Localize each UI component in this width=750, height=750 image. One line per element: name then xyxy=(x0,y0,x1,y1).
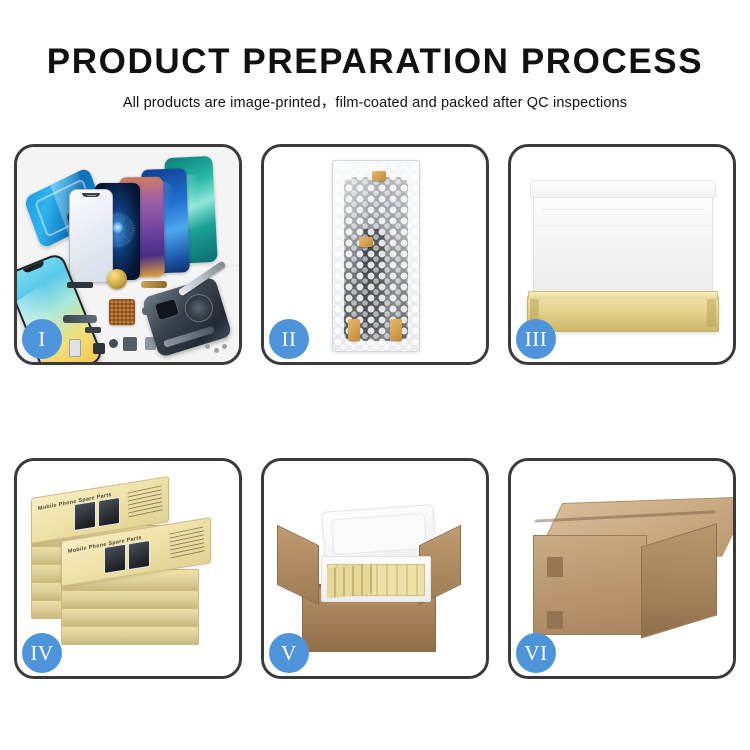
wireless-charging-coil xyxy=(181,291,216,326)
sim-tray xyxy=(69,339,81,357)
bubble-wrap-bag xyxy=(332,160,420,352)
process-step-panel-1[interactable]: I xyxy=(14,144,242,365)
flex-cable-1 xyxy=(63,315,97,323)
yellow-boxes-stacked-left xyxy=(327,564,373,599)
process-steps-grid: I II xyxy=(14,144,736,679)
tape-piece-middle xyxy=(359,237,373,247)
process-step-panel-4[interactable]: Mobile Phone Spare Parts Mobile Phone Sp… xyxy=(14,458,242,679)
tape-piece-bottom-right xyxy=(390,319,402,341)
small-part-3 xyxy=(123,337,137,351)
part-bar xyxy=(67,282,93,288)
foam-top-flap xyxy=(530,180,716,198)
screen-protector-glass xyxy=(69,189,113,283)
small-part-1 xyxy=(93,343,105,354)
box-thumbnail-a-front xyxy=(104,544,126,574)
carton-flap-left xyxy=(277,525,319,605)
box-lip xyxy=(528,291,718,299)
tape-piece-top xyxy=(372,171,386,181)
step-badge-2: II xyxy=(269,319,309,359)
step-badge-3: III xyxy=(516,319,556,359)
box-corner-right xyxy=(707,299,716,327)
yellow-inner-box xyxy=(527,296,719,332)
foam-fold-line-1 xyxy=(542,209,704,210)
camera-module xyxy=(154,298,180,322)
box-stack: Mobile Phone Spare Parts Mobile Phone Sp… xyxy=(31,485,229,663)
box-spec-lines-front xyxy=(169,526,204,559)
plastic-sheen xyxy=(333,161,419,351)
speaker-slot xyxy=(87,195,96,196)
step-badge-4: IV xyxy=(22,633,62,673)
flex-cable-3 xyxy=(141,281,167,288)
step-badge-1: I xyxy=(22,319,62,359)
sealed-carton xyxy=(533,503,717,635)
foam-fold-line-2 xyxy=(534,225,712,226)
process-step-panel-5[interactable]: V xyxy=(261,458,489,679)
process-step-panel-6[interactable]: VI xyxy=(508,458,736,679)
page-subtitle: All products are image-printed，film-coat… xyxy=(0,82,750,112)
tape-piece-bottom-left xyxy=(348,319,360,341)
small-part-5 xyxy=(85,327,101,333)
box-thumbnail-b-back xyxy=(98,497,120,527)
process-step-panel-3[interactable]: III xyxy=(508,144,736,365)
small-part-2 xyxy=(109,339,118,348)
gold-component xyxy=(107,269,127,289)
white-foam-lining xyxy=(533,190,713,306)
step-badge-6: VI xyxy=(516,633,556,673)
process-step-panel-2[interactable]: II xyxy=(261,144,489,365)
box-spec-lines-back xyxy=(127,485,162,518)
page-title: PRODUCT PREPARATION PROCESS xyxy=(0,0,750,82)
box-thumbnail-b-front xyxy=(128,540,150,570)
carton-tape-upper xyxy=(547,557,563,577)
box-thumbnail-a-back xyxy=(74,501,96,531)
carton-tape-lower xyxy=(547,611,563,629)
chip-grid-component xyxy=(109,299,135,325)
step-badge-5: V xyxy=(269,633,309,673)
header: PRODUCT PREPARATION PROCESS All products… xyxy=(0,0,750,112)
product-preparation-page: PRODUCT PREPARATION PROCESS All products… xyxy=(0,0,750,750)
screws-group xyxy=(205,344,229,354)
